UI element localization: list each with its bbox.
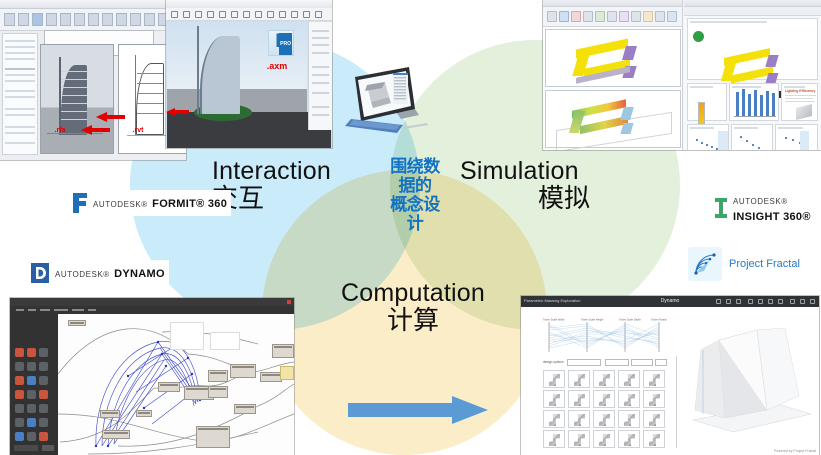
graph-node[interactable]: [68, 320, 86, 326]
design-option-thumbnail[interactable]: [543, 390, 565, 408]
ribbon-toolbar: [0, 9, 186, 31]
model-preview-card[interactable]: [687, 18, 818, 80]
ground-plane: [167, 112, 331, 148]
right-tool-panel[interactable]: [308, 22, 332, 130]
screenshot-dynamo: [10, 298, 294, 455]
design-option-thumbnail[interactable]: [593, 430, 615, 448]
screenshot-project-fractal: Parametric Massing Exploration Dynamo: [521, 296, 819, 455]
svg-text:Tower Scale Width: Tower Scale Width: [543, 318, 565, 322]
logo-dynamo-line1: AUTODESK®: [55, 270, 110, 279]
status-indicator: [693, 31, 704, 42]
label-simulation-en: Simulation: [460, 158, 620, 185]
logo-insight-line1: AUTODESK®: [733, 197, 788, 206]
design-option-thumbnail[interactable]: [643, 410, 665, 428]
design-option-thumbnail[interactable]: [593, 410, 615, 428]
properties-palette: [2, 33, 38, 155]
pro-badge: PRO: [279, 33, 292, 55]
label-computation-zh: 计算: [318, 307, 508, 335]
label-simulation: Simulation 模拟: [460, 158, 620, 212]
label-simulation-zh: 模拟: [460, 185, 620, 213]
window-title-bar: [10, 298, 294, 306]
window-title-bar: [0, 0, 186, 9]
clear-all-button[interactable]: [655, 359, 667, 366]
energy-gauge-card[interactable]: [687, 83, 727, 121]
model-c-shape: [720, 51, 794, 87]
center-line-1: 围绕数: [382, 157, 448, 176]
design-option-thumbnail[interactable]: [593, 390, 615, 408]
lighting-efficiency-card[interactable]: Lighting Efficiency: [781, 83, 818, 121]
screenshot-formit-pro: F PRO .axm: [166, 0, 332, 148]
logo-dynamo-line2: DYNAMO: [114, 268, 165, 280]
graph-node[interactable]: [208, 386, 228, 398]
browser-address-bar[interactable]: [684, 7, 821, 16]
logo-formit-line2: FORMIT® 360: [152, 198, 227, 210]
design-option-thumbnail[interactable]: [543, 370, 565, 388]
formit-toolbar: [166, 8, 332, 21]
revit-window: [543, 0, 683, 150]
annotation-rvt: .rvt: [126, 127, 150, 136]
design-option-thumbnail[interactable]: [568, 430, 590, 448]
app-title: Dynamo: [661, 298, 680, 304]
node-library-panel[interactable]: [10, 314, 58, 455]
window-title-bar: [543, 0, 682, 7]
logo-autodesk-formit-360: AUTODESK® FORMIT® 360: [68, 190, 231, 216]
window-title-bar: [166, 0, 332, 8]
graph-node[interactable]: [100, 410, 120, 418]
design-option-thumbnail[interactable]: [593, 370, 615, 388]
center-line-4: 计: [382, 214, 448, 233]
parallel-coordinates-chart[interactable]: Tower Scale WidthTower Scale Height Towe…: [543, 318, 667, 356]
design-option-thumbnail[interactable]: [568, 410, 590, 428]
formit-app-icon: F PRO: [268, 30, 294, 56]
center-line-3: 概念设: [382, 195, 448, 214]
design-option-thumbnail[interactable]: [618, 390, 640, 408]
blue-right-arrow-icon: [348, 395, 488, 425]
svg-text:Tower Rotation: Tower Rotation: [651, 318, 667, 322]
graph-note[interactable]: [210, 332, 240, 350]
design-option-thumbnail[interactable]: [568, 390, 590, 408]
logo-insight-line2: INSIGHT 360®: [733, 211, 811, 223]
bar-chart-card[interactable]: [729, 83, 779, 121]
surface-tablet-illustration: [345, 63, 437, 135]
red-arrow-left-1: [96, 112, 107, 122]
card-title: Lighting Efficiency: [785, 89, 815, 93]
graph-node[interactable]: [272, 344, 294, 358]
insight-i-icon: [714, 197, 728, 219]
model-mast: [197, 26, 199, 114]
menu-bar[interactable]: [10, 306, 294, 314]
dynamo-d-icon: [30, 262, 50, 284]
viewport-3d-preview[interactable]: [681, 314, 817, 450]
label-computation: Computation 计算: [318, 280, 508, 334]
panel-divider[interactable]: [676, 356, 677, 448]
design-option-thumbnail[interactable]: [643, 430, 665, 448]
design-option-thumbnail[interactable]: [643, 370, 665, 388]
center-line-2: 据的: [382, 176, 448, 195]
screenshot-insight-360: Lighting Efficiency: [543, 0, 821, 150]
label-computation-en: Computation: [318, 280, 508, 307]
graph-node[interactable]: [234, 404, 256, 414]
scatter-chart-card-2[interactable]: [731, 124, 773, 150]
graph-node-warning[interactable]: [280, 366, 294, 380]
graph-node[interactable]: [196, 426, 230, 448]
dynamo-canvas[interactable]: [58, 314, 294, 455]
graph-node[interactable]: [260, 372, 282, 382]
graph-node[interactable]: [136, 410, 152, 417]
svg-text:Tower Scale Depth: Tower Scale Depth: [619, 318, 641, 322]
design-option-thumbnail[interactable]: [618, 370, 640, 388]
viewport-analysis-model[interactable]: [545, 90, 681, 148]
logo-autodesk-insight-360: AUTODESK® INSIGHT 360®: [710, 190, 821, 227]
design-option-thumbnail[interactable]: [543, 430, 565, 448]
fractal-spiral-icon: [688, 247, 722, 281]
viewport-conceptual-mass[interactable]: [545, 29, 681, 87]
formit-f-icon: [72, 192, 88, 214]
design-option-thumbnail[interactable]: [543, 410, 565, 428]
label-interaction-en: Interaction: [196, 158, 356, 185]
app-title-bar: Parametric Massing Exploration Dynamo: [521, 296, 819, 307]
annotation-rfa: .rfa: [48, 127, 72, 136]
project-title: Parametric Massing Exploration: [524, 298, 580, 303]
screenshot-formit-revit-montage: .rfa .rvt: [0, 0, 186, 160]
design-option-thumbnail[interactable]: [618, 410, 640, 428]
logo-autodesk-dynamo: AUTODESK® DYNAMO: [26, 260, 169, 286]
logo-formit-line1: AUTODESK®: [93, 200, 148, 209]
logo-fractal-label: Project Fractal: [729, 258, 800, 270]
graph-node[interactable]: [102, 430, 130, 439]
center-concept-text: 围绕数 据的 概念设 计: [382, 157, 448, 233]
viewport-shaded-model[interactable]: [40, 44, 114, 154]
graph-node[interactable]: [208, 370, 228, 382]
scatter-chart-card-3[interactable]: [775, 124, 818, 150]
insight-browser-dashboard: Lighting Efficiency: [684, 0, 821, 150]
logo-project-fractal: Project Fractal: [684, 245, 804, 283]
svg-text:Tower Scale Height: Tower Scale Height: [581, 318, 604, 322]
slide-canvas: .rfa .rvt F PRO .axm: [0, 0, 821, 455]
section-label: design options: [543, 360, 564, 364]
annotation-axm: .axm: [266, 60, 288, 74]
design-option-thumbnail[interactable]: [618, 430, 640, 448]
graph-note[interactable]: [170, 322, 204, 350]
design-option-thumbnail[interactable]: [568, 370, 590, 388]
design-option-thumbnail[interactable]: [643, 390, 665, 408]
footer-note: Powered by Project Fractal: [774, 449, 816, 453]
options-toolbar[interactable]: design options: [543, 359, 667, 366]
browser-title-bar: [684, 0, 821, 7]
sort-dropdown[interactable]: [567, 359, 601, 366]
graph-node[interactable]: [158, 382, 180, 392]
scatter-chart-card-1[interactable]: [687, 124, 729, 150]
design-options-grid[interactable]: [543, 370, 667, 450]
save-to-new-design-button[interactable]: [631, 359, 653, 366]
red-arrow-left-2: [166, 108, 175, 116]
generate-options-button[interactable]: [605, 359, 629, 366]
graph-node[interactable]: [230, 364, 256, 378]
ribbon-toolbar: [543, 7, 682, 27]
